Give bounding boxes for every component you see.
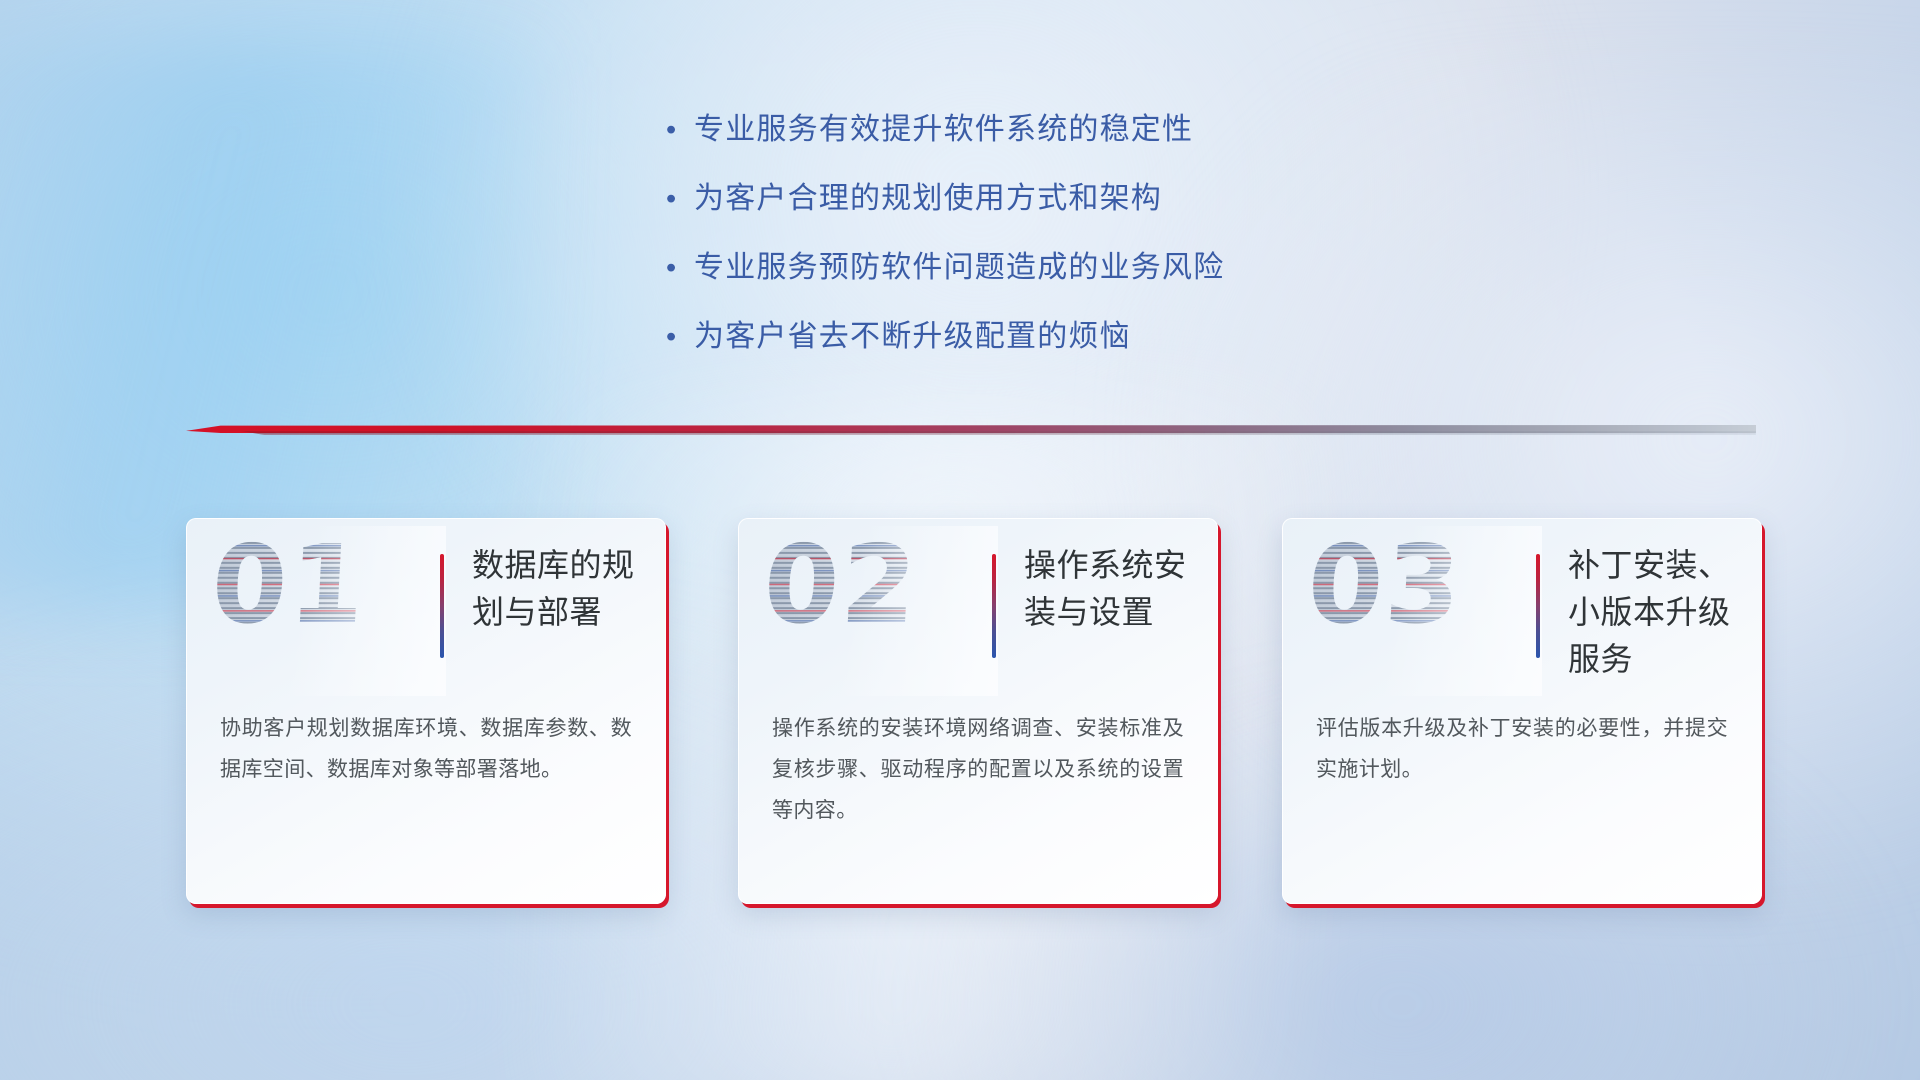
card-title: 补丁安装、小版本升级服务 <box>1568 542 1750 683</box>
bullet-marker-icon: • <box>660 110 694 150</box>
bullet-text: 为客户省去不断升级配置的烦恼 <box>694 317 1131 357</box>
card-title-accent-rule <box>992 554 996 658</box>
service-card[interactable]: 02 02 操作系统安装与设置 操作系统的安装环境网络调查、安装标准及复核步骤、… <box>738 518 1218 904</box>
list-item: • 专业服务预防软件问题造成的业务风险 <box>660 248 1560 288</box>
list-item: • 专业服务有效提升软件系统的稳定性 <box>660 110 1560 150</box>
card-header: 03 03 补丁安装、小版本升级服务 <box>1282 518 1762 694</box>
card-description: 协助客户规划数据库环境、数据库参数、数据库空间、数据库对象等部署落地。 <box>220 708 632 790</box>
card-header: 01 01 数据库的规划与部署 <box>186 518 666 694</box>
bullet-text: 专业服务有效提升软件系统的稳定性 <box>694 110 1193 150</box>
service-card[interactable]: 01 01 数据库的规划与部署 协助客户规划数据库环境、数据库参数、数据库空间、… <box>186 518 666 904</box>
card-description: 操作系统的安装环境网络调查、安装标准及复核步骤、驱动程序的配置以及系统的设置等内… <box>772 708 1184 831</box>
service-card-group: 01 01 数据库的规划与部署 协助客户规划数据库环境、数据库参数、数据库空间、… <box>0 518 1920 928</box>
bullet-marker-icon: • <box>660 317 694 357</box>
card-number-watermark: 02 <box>761 532 921 640</box>
card-title-accent-rule <box>1536 554 1540 658</box>
bullet-text: 专业服务预防软件问题造成的业务风险 <box>694 248 1224 288</box>
list-item: • 为客户省去不断升级配置的烦恼 <box>660 317 1560 357</box>
card-title: 数据库的规划与部署 <box>472 542 654 636</box>
card-number-watermark: 01 <box>209 532 369 640</box>
divider-shadow-bar <box>186 431 1756 435</box>
service-card[interactable]: 03 03 补丁安装、小版本升级服务 评估版本升级及补丁安装的必要性，并提交实施… <box>1282 518 1762 904</box>
bullet-text: 为客户合理的规划使用方式和架构 <box>694 179 1162 219</box>
bullet-marker-icon: • <box>660 179 694 219</box>
card-title-accent-rule <box>440 554 444 658</box>
card-header: 02 02 操作系统安装与设置 <box>738 518 1218 694</box>
benefits-bullet-list: • 专业服务有效提升软件系统的稳定性 • 为客户合理的规划使用方式和架构 • 专… <box>660 110 1560 386</box>
section-divider <box>186 421 1756 437</box>
card-description: 评估版本升级及补丁安装的必要性，并提交实施计划。 <box>1316 708 1728 790</box>
list-item: • 为客户合理的规划使用方式和架构 <box>660 179 1560 219</box>
card-title: 操作系统安装与设置 <box>1024 542 1206 636</box>
card-number-watermark: 03 <box>1305 532 1465 640</box>
bullet-marker-icon: • <box>660 248 694 288</box>
